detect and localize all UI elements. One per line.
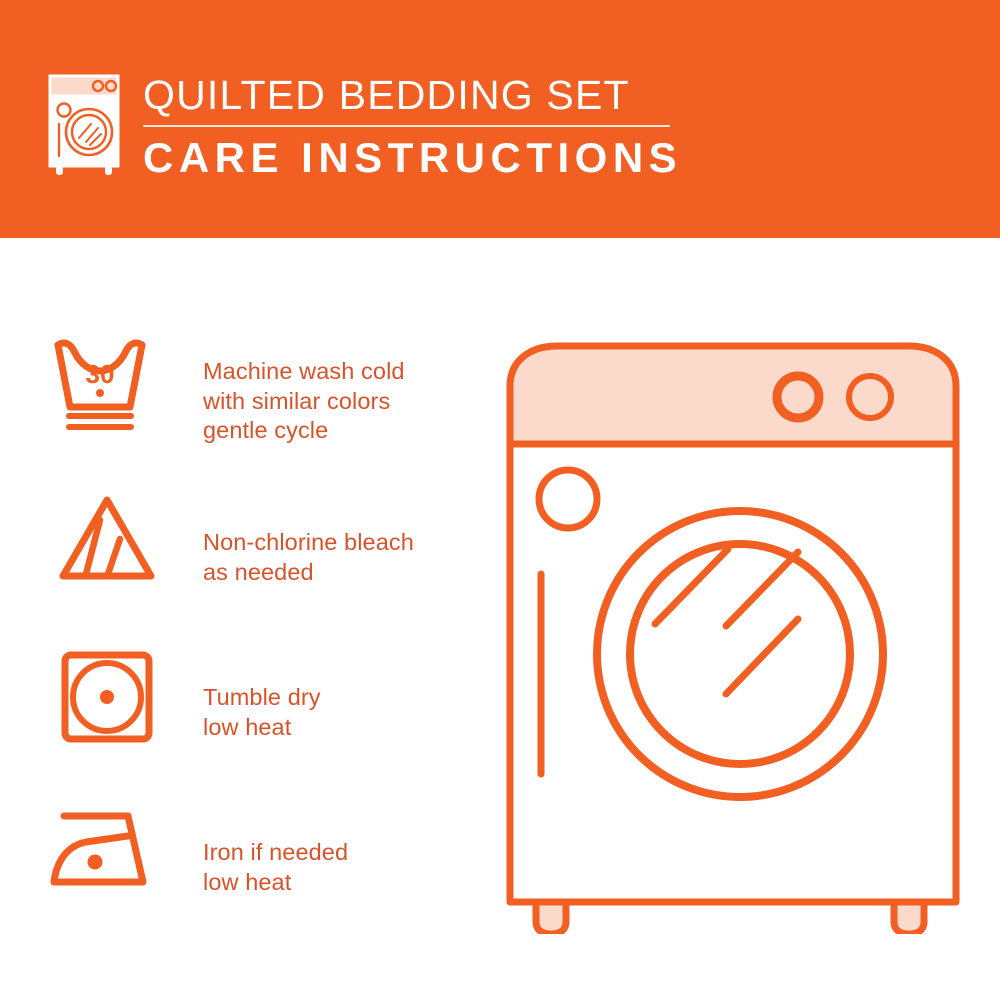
leg-right [894,902,924,934]
header-banner: QUILTED BEDDING SET CARE INSTRUCTIONS [0,0,1000,238]
product-title: QUILTED BEDDING SET [143,72,843,118]
iron-low-heat-icon [42,795,172,905]
care-label-iron: Iron if needed low heat [203,838,348,897]
wash-temperature-value: 30 [86,359,115,389]
care-row-machine-wash: 30 Machine wash cold with similar colors… [0,330,500,485]
care-row-iron: Iron if needed low heat [0,795,500,950]
tumble-dry-low-icon [42,640,172,750]
leg-left [536,902,566,934]
title-divider [143,125,670,127]
page-title: CARE INSTRUCTIONS [143,135,843,181]
washing-machine-illustration [498,334,968,934]
care-label-bleach: Non-chlorine bleach as needed [203,528,414,587]
washing-machine-logo-icon [45,72,123,176]
care-instruction-list: 30 Machine wash cold with similar colors… [0,330,500,950]
care-label-tumble-dry: Tumble dry low heat [203,683,321,742]
header-title-group: QUILTED BEDDING SET CARE INSTRUCTIONS [143,72,843,181]
care-row-tumble-dry: Tumble dry low heat [0,640,500,795]
non-chlorine-bleach-icon [42,485,172,595]
care-instructions-infographic: QUILTED BEDDING SET CARE INSTRUCTIONS 30 [0,0,1000,1000]
machine-wash-30-gentle-icon: 30 [42,330,172,440]
care-row-bleach: Non-chlorine bleach as needed [0,485,500,640]
care-label-machine-wash: Machine wash cold with similar colors ge… [203,357,405,446]
